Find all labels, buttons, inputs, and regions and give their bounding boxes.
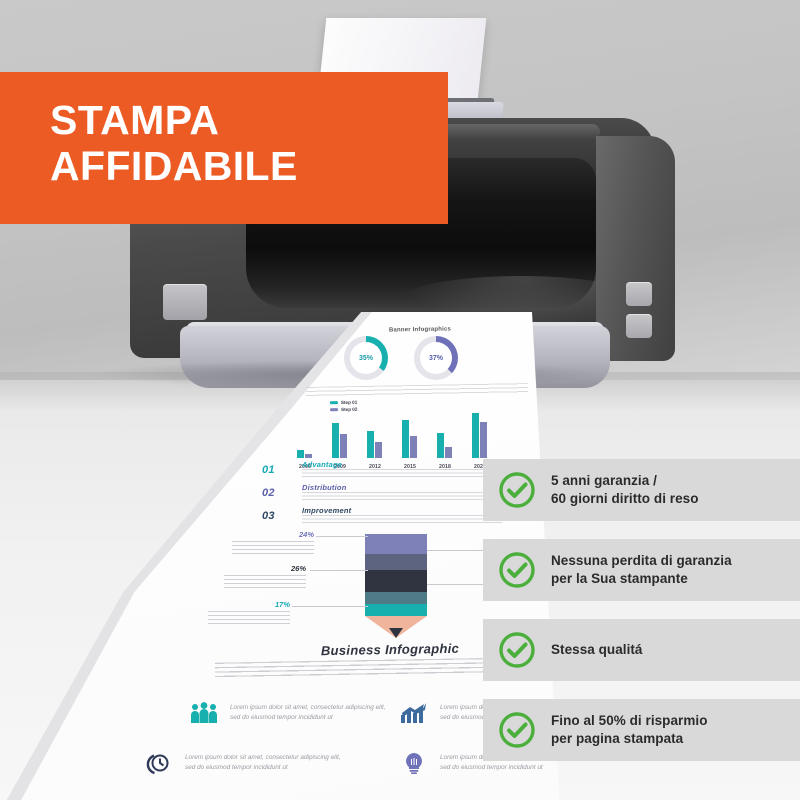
pyramid-label-1: 24% — [232, 530, 314, 557]
feature-line-1: 5 anni garanzia / — [551, 473, 657, 488]
headline-line-2: AFFIDABILE — [50, 143, 298, 189]
list-number-02: 02 — [262, 487, 275, 499]
page-title: STAMPA AFFIDABILE — [50, 98, 298, 190]
infographic-content: Banner Infographics 35% 37% Step 01 Step… — [0, 312, 560, 800]
legend-label-1: Step 01 — [341, 400, 357, 405]
people-group-icon — [190, 702, 218, 726]
donut-hole-2: 37% — [420, 342, 452, 374]
leader-line-2 — [310, 570, 368, 571]
donut-chart-2: 37% — [414, 336, 458, 380]
bar-2009-step-02 — [340, 434, 347, 458]
donut-value-1: 35% — [359, 355, 373, 362]
bar-group — [402, 420, 417, 458]
pyramid-segment-2 — [365, 554, 427, 570]
list-body-2 — [302, 492, 502, 502]
bar-2006-step-02 — [305, 454, 312, 458]
list-heading-improvement: Improvement — [302, 506, 351, 515]
bar-group — [297, 450, 312, 458]
list-item: 03 Improvement — [262, 506, 512, 529]
pencil-lead-tip — [389, 628, 403, 638]
bar-group — [332, 423, 347, 458]
list-body-3 — [302, 515, 502, 525]
pyramid-segment-4 — [365, 592, 427, 604]
list-number-01: 01 — [262, 464, 275, 476]
pencil-pyramid-chart — [365, 534, 427, 634]
list-number-03: 03 — [262, 510, 275, 522]
donut-chart-1: 35% — [344, 336, 388, 380]
poster-canvas: Banner Infographics 35% 37% Step 01 Step… — [0, 0, 800, 800]
feature-text: Nessuna perdita di garanzia per la Sua s… — [551, 552, 732, 588]
printer-power-button[interactable] — [626, 282, 652, 306]
pyramid-pct-26: 26% — [224, 564, 306, 573]
feature-text: 5 anni garanzia / 60 giorni diritto di r… — [551, 472, 699, 508]
list-body-1 — [302, 469, 502, 479]
leader-line-1 — [316, 536, 368, 537]
headline-line-1: STAMPA — [50, 97, 219, 143]
pyramid-segment-1 — [365, 534, 427, 554]
bar-group — [367, 431, 382, 458]
legend-entry-1: Step 01 — [330, 400, 357, 405]
bar-2006-step-01 — [297, 450, 304, 458]
feature-item-no-warranty-loss[interactable]: Nessuna perdita di garanzia per la Sua s… — [483, 539, 800, 601]
feature-line-1: Stessa qualitá — [551, 642, 643, 657]
section-paragraph — [215, 657, 525, 678]
bar-2018-step-02 — [445, 447, 452, 458]
feature-line-1: Nessuna perdita di garanzia — [551, 553, 732, 568]
pyramid-label-3: 17% — [208, 600, 290, 627]
check-circle-icon — [498, 471, 536, 509]
bar-2012-step-01 — [367, 431, 374, 458]
legend-swatch-1 — [330, 401, 338, 404]
clock-time-icon — [145, 752, 173, 776]
donut-hole-1: 35% — [350, 342, 382, 374]
numbered-list: 01 Advantage 02 Distribution 03 Improvem… — [262, 460, 512, 529]
bar-2018-step-01 — [437, 433, 444, 458]
bar-2012-step-02 — [375, 442, 382, 458]
bar-2023-step-01 — [472, 413, 479, 458]
pyramid-text-3 — [208, 611, 290, 627]
pyramid-text-1 — [232, 541, 314, 557]
feature-line-2: per pagina stampata — [551, 731, 683, 746]
feature-line-2: per la Sua stampante — [551, 571, 688, 586]
bar-2015-step-02 — [410, 436, 417, 458]
feature-line-2: 60 giorni diritto di reso — [551, 491, 699, 506]
list-heading-distribution: Distribution — [302, 483, 346, 492]
headline-banner: STAMPA AFFIDABILE — [0, 72, 448, 224]
pyramid-pct-24: 24% — [232, 530, 314, 539]
bar-chart-growth-icon — [400, 702, 428, 726]
list-heading-advantage: Advantage — [302, 460, 342, 469]
document-title: Banner Infographics — [360, 326, 480, 334]
feature-text: Stessa qualitá — [551, 641, 643, 659]
pyramid-pct-17: 17% — [208, 600, 290, 609]
feature-item-same-quality[interactable]: Stessa qualitá — [483, 619, 800, 681]
bar-group — [472, 413, 487, 458]
check-circle-icon — [498, 551, 536, 589]
list-item: 01 Advantage — [262, 460, 512, 483]
printer-feed-button[interactable] — [626, 314, 652, 338]
check-circle-icon — [498, 631, 536, 669]
bar-2015-step-01 — [402, 420, 409, 458]
bar-2009-step-01 — [332, 423, 339, 458]
feature-item-savings[interactable]: Fino al 50% di risparmio per pagina stam… — [483, 699, 800, 761]
lightbulb-idea-icon — [400, 752, 428, 776]
icon-item-text-1: Lorem ipsum dolor sit amet, consectetur … — [230, 703, 390, 722]
bar-2023-step-02 — [480, 422, 487, 458]
icon-item-text-3: Lorem ipsum dolor sit amet, consectetur … — [185, 753, 345, 772]
pyramid-segment-5 — [365, 604, 427, 616]
pyramid-segment-3 — [365, 570, 427, 592]
leader-line-4 — [427, 550, 487, 551]
leader-line-3 — [292, 606, 368, 607]
check-circle-icon — [498, 711, 536, 749]
bar-group — [437, 433, 452, 458]
feature-item-warranty[interactable]: 5 anni garanzia / 60 giorni diritto di r… — [483, 459, 800, 521]
donut-value-2: 37% — [429, 355, 443, 362]
pyramid-label-2: 26% — [224, 564, 306, 591]
document-paragraph — [306, 383, 528, 398]
feature-text: Fino al 50% di risparmio per pagina stam… — [551, 712, 708, 748]
list-item: 02 Distribution — [262, 483, 512, 506]
pyramid-text-2 — [224, 575, 306, 591]
feature-line-1: Fino al 50% di risparmio — [551, 713, 708, 728]
